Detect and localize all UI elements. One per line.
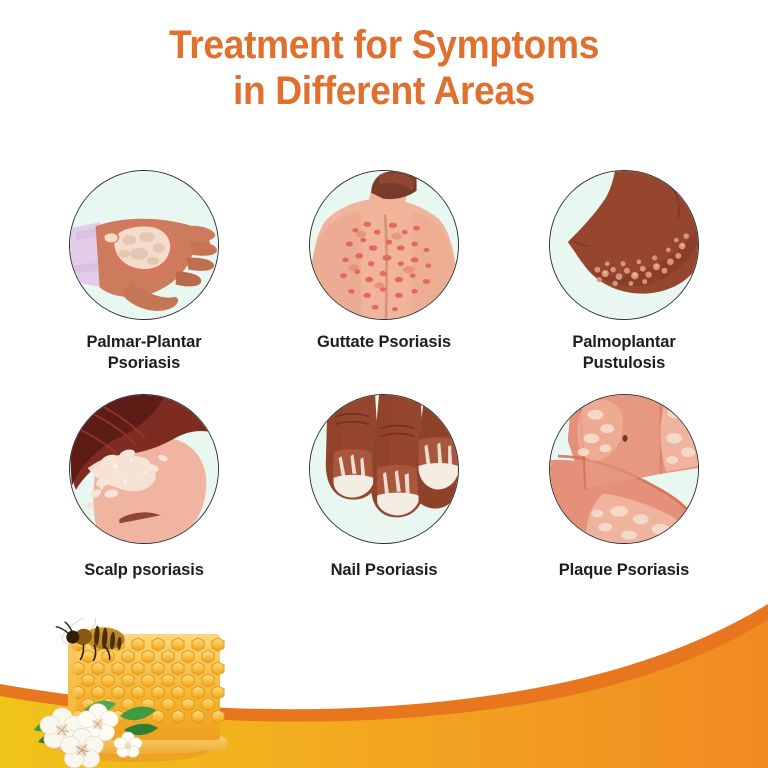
illustration-foot-with-pustules [549,170,699,320]
page-title: Treatment for Symptoms in Different Area… [0,22,768,114]
symptom-caption: Palmar-Plantar Psoriasis [86,332,201,374]
symptom-card-nail-psoriasis[interactable]: Nail Psoriasis [264,394,504,581]
illustration-scalp-with-flakes [69,394,219,544]
symptom-card-palmar-plantar-psoriasis[interactable]: Palmar-Plantar Psoriasis [24,170,264,374]
symptom-caption: Guttate Psoriasis [317,332,451,353]
symptom-caption: Plaque Psoriasis [559,560,689,581]
caption-line-2: Pustulosis [572,353,675,374]
symptom-caption: Scalp psoriasis [84,560,204,581]
footer-decoration [0,598,768,768]
symptom-caption: Palmoplantar Pustulosis [572,332,675,374]
symptom-caption: Nail Psoriasis [331,560,438,581]
caption-line-1: Palmar-Plantar [86,332,201,353]
symptom-card-palmoplantar-pustulosis[interactable]: Palmoplantar Pustulosis [504,170,744,374]
illustration-hand-with-plaques [69,170,219,320]
honeycomb-bee-flowers [24,618,264,768]
page-title-line-1: Treatment for Symptoms [27,22,741,68]
caption-line-1: Nail Psoriasis [331,560,438,581]
illustration-fingers-with-nail-pitting [309,394,459,544]
caption-line-1: Guttate Psoriasis [317,332,451,353]
symptom-grid: Palmar-Plantar Psoriasis [0,170,768,581]
honeycomb-group [24,618,264,768]
symptom-card-scalp-psoriasis[interactable]: Scalp psoriasis [24,394,264,581]
symptom-row-1: Palmar-Plantar Psoriasis [0,170,768,374]
illustration-back-with-spots [309,170,459,320]
caption-line-1: Scalp psoriasis [84,560,204,581]
caption-line-2: Psoriasis [86,353,201,374]
caption-line-1: Plaque Psoriasis [559,560,689,581]
caption-line-1: Palmoplantar [572,332,675,353]
symptom-card-plaque-psoriasis[interactable]: Plaque Psoriasis [504,394,744,581]
symptom-row-2: Scalp psoriasis [0,394,768,581]
illustration-elbow-with-plaque [549,394,699,544]
symptom-card-guttate-psoriasis[interactable]: Guttate Psoriasis [264,170,504,353]
page-title-line-2: in Different Areas [27,68,741,114]
